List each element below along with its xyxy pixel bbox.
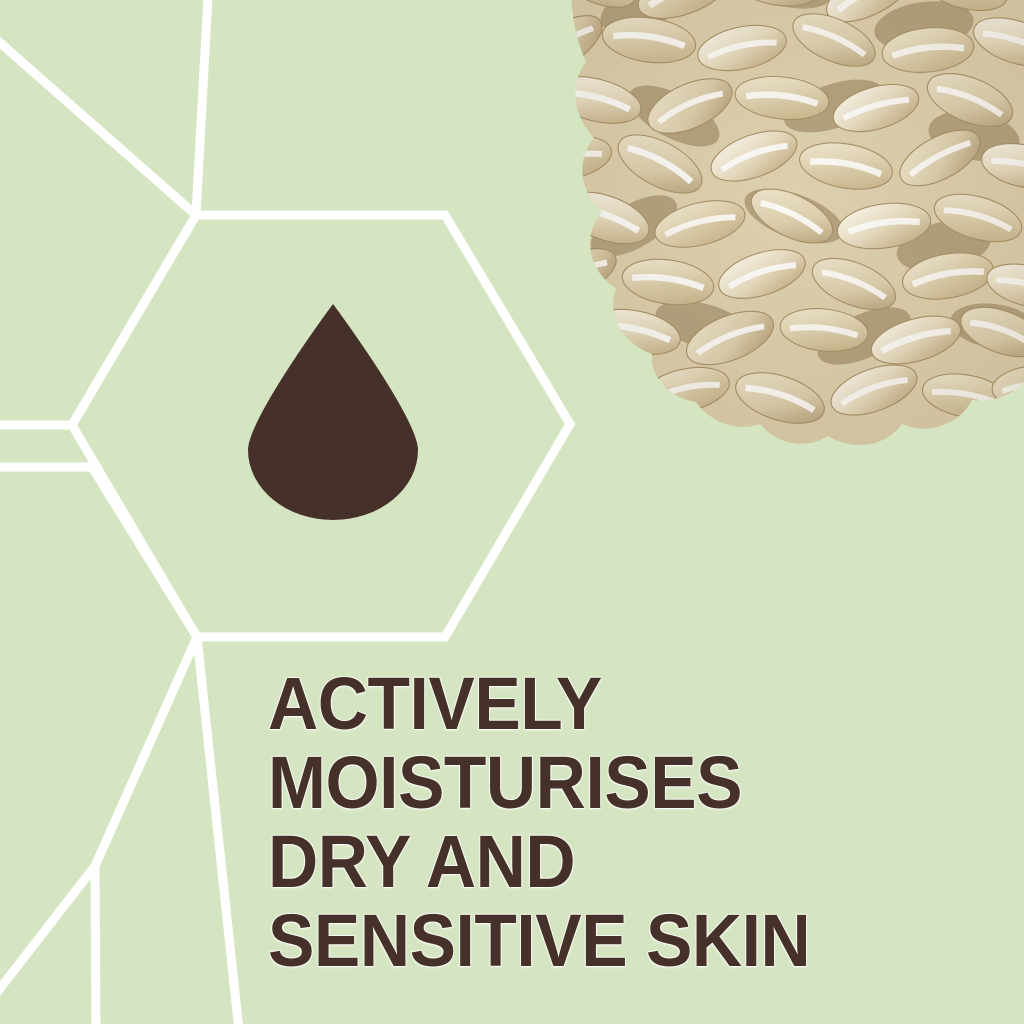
hexagon-bottom-left-stub	[0, 866, 95, 1024]
hexagon-upper-left	[0, 0, 196, 425]
headline-line-4: SENSITIVE SKIN	[268, 901, 926, 980]
water-droplet-icon	[248, 300, 418, 520]
headline-block: ACTIVELY MOISTURISES DRY AND SENSITIVE S…	[268, 664, 968, 980]
hexagon-lower-left	[0, 467, 197, 866]
headline-line-3: DRY AND	[268, 822, 926, 901]
hexagon-upper-left-alt	[196, 0, 210, 215]
hexagon-bottom-stub	[197, 637, 240, 1024]
hexagon-bottom-edge	[95, 866, 96, 1024]
rolled-oats-photo	[524, 0, 1024, 466]
product-benefit-banner: ACTIVELY MOISTURISES DRY AND SENSITIVE S…	[0, 0, 1024, 1024]
headline-line-1: ACTIVELY	[268, 664, 926, 743]
headline-line-2: MOISTURISES	[268, 743, 926, 822]
